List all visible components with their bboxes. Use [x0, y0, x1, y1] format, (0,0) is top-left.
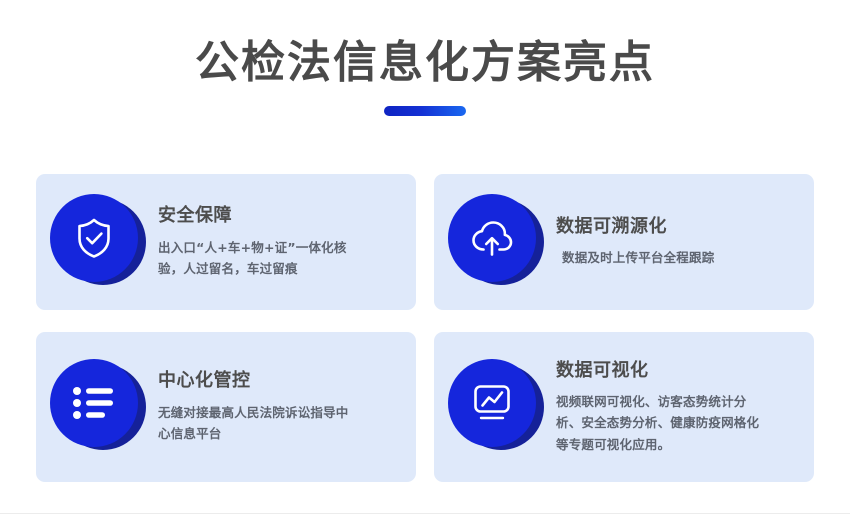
highlight-card-security[interactable]: 安全保障 出入口“人+车+物+证”一体化核验，人过留名，车过留痕 [36, 174, 416, 310]
card-description: 出入口“人+车+物+证”一体化核验，人过留名，车过留痕 [158, 237, 358, 280]
card-title: 数据可溯源化 [556, 215, 800, 238]
icon-badge [448, 359, 544, 455]
highlight-card-visualization[interactable]: 数据可视化 视频联网可视化、访客态势统计分析、安全态势分析、健康防疫网格化等专题… [434, 332, 814, 482]
icon-main-circle [448, 194, 536, 282]
icon-main-circle [50, 359, 138, 447]
bottom-divider [0, 513, 850, 514]
page-title: 公检法信息化方案亮点 [0, 36, 850, 90]
card-text: 中心化管控 无缝对接最高人民法院诉讼指导中心信息平台 [152, 369, 402, 444]
icon-main-circle [448, 359, 536, 447]
card-text: 安全保障 出入口“人+车+物+证”一体化核验，人过留名，车过留痕 [152, 204, 402, 279]
highlight-card-centralized-control[interactable]: 中心化管控 无缝对接最高人民法院诉讼指导中心信息平台 [36, 332, 416, 482]
icon-badge [448, 194, 544, 290]
card-title: 数据可视化 [556, 359, 800, 382]
card-description: 数据及时上传平台全程跟踪 [556, 247, 772, 269]
page-header: 公检法信息化方案亮点 [0, 0, 850, 116]
icon-badge [50, 194, 146, 290]
shield-check-icon [74, 216, 114, 260]
card-text: 数据可溯源化 数据及时上传平台全程跟踪 [550, 215, 800, 269]
page-root: 公检法信息化方案亮点 安全保障 出入口“人+车+物+证”一体化核验，人 [0, 0, 850, 516]
card-description: 视频联网可视化、访客态势统计分析、安全态势分析、健康防疫网格化等专题可视化应用。 [556, 391, 764, 456]
card-title: 中心化管控 [158, 369, 402, 392]
card-description: 无缝对接最高人民法院诉讼指导中心信息平台 [158, 402, 358, 445]
highlight-card-traceability[interactable]: 数据可溯源化 数据及时上传平台全程跟踪 [434, 174, 814, 310]
icon-badge [50, 359, 146, 455]
list-bullets-icon [72, 386, 116, 420]
chart-monitor-icon [471, 383, 513, 423]
title-accent-bar [384, 106, 466, 116]
card-title: 安全保障 [158, 204, 402, 227]
icon-main-circle [50, 194, 138, 282]
cloud-upload-icon [469, 218, 515, 258]
card-text: 数据可视化 视频联网可视化、访客态势统计分析、安全态势分析、健康防疫网格化等专题… [550, 359, 800, 456]
highlight-card-grid: 安全保障 出入口“人+车+物+证”一体化核验，人过留名，车过留痕 [36, 174, 814, 482]
